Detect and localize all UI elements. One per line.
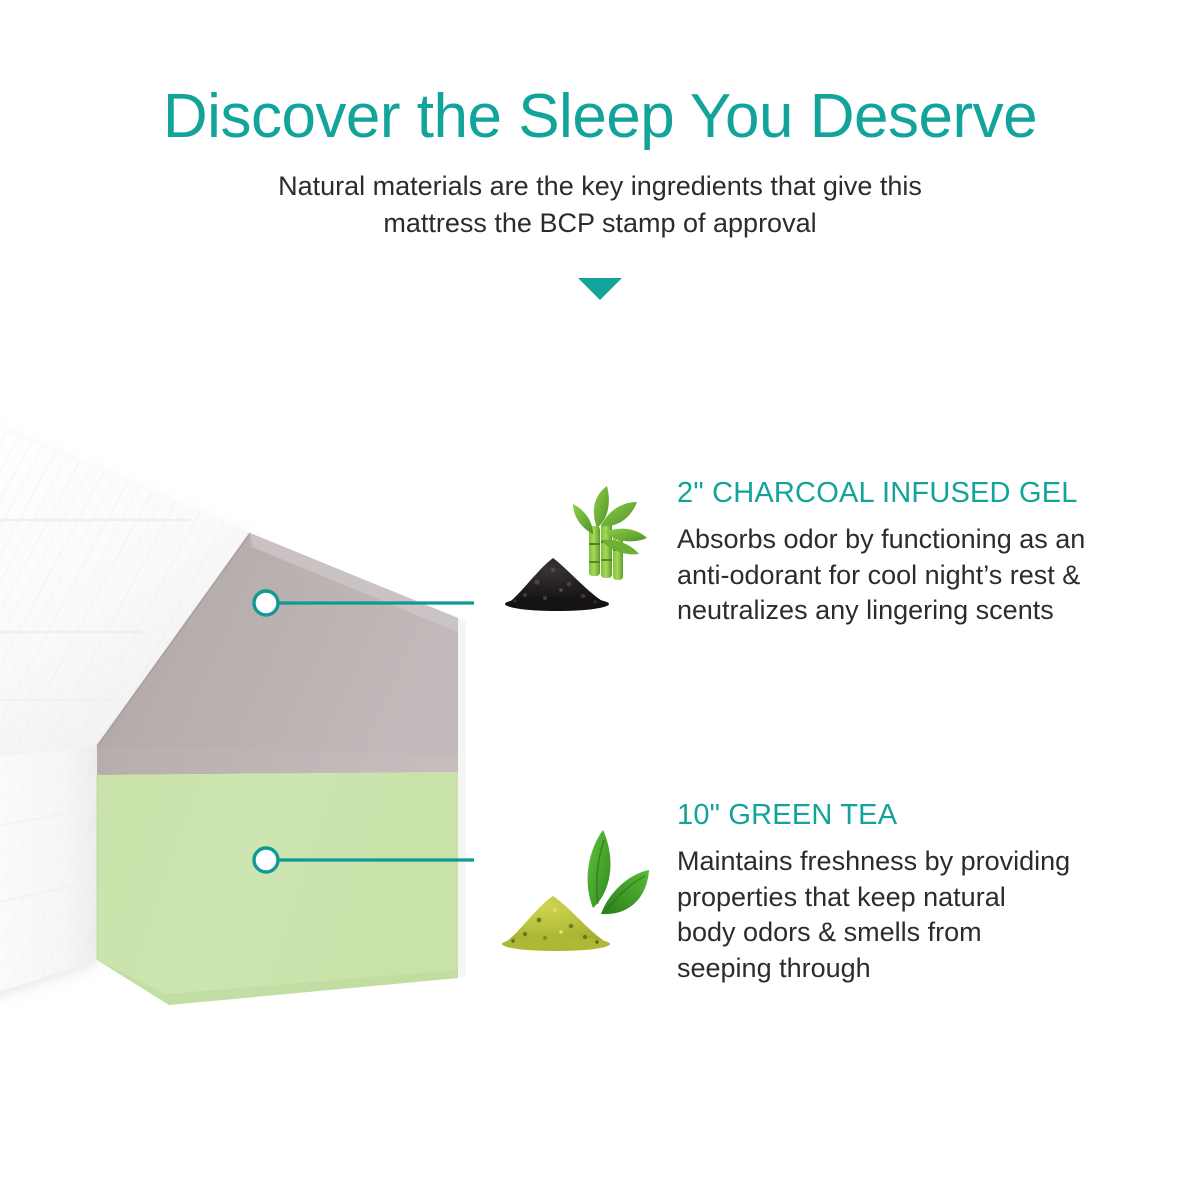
triangle-down-icon bbox=[578, 278, 622, 300]
feature-green-tea-title: 10" GREEN TEA bbox=[677, 800, 1157, 832]
feature-charcoal-body: Absorbs odor by functioning as an anti-o… bbox=[677, 510, 1157, 629]
feature-charcoal-body-line-1: Absorbs odor by functioning as an bbox=[677, 522, 1157, 558]
feature-green-tea-body-line-1: Maintains freshness by providing bbox=[677, 844, 1157, 880]
tea-leaves bbox=[588, 830, 649, 914]
page-subtitle: Natural materials are the key ingredient… bbox=[200, 148, 1000, 243]
bamboo-leaves bbox=[573, 486, 647, 554]
feature-charcoal-title: 2" CHARCOAL INFUSED GEL bbox=[677, 478, 1157, 510]
feature-charcoal-body-line-3: neutralizes any lingering scents bbox=[677, 593, 1157, 629]
feature-green-tea-body: Maintains freshness by providing propert… bbox=[677, 832, 1157, 987]
page-title: Discover the Sleep You Deserve bbox=[0, 0, 1200, 148]
feature-green-tea-text: 10" GREEN TEA Maintains freshness by pro… bbox=[667, 800, 1157, 986]
feature-green-tea-body-line-2: properties that keep natural bbox=[677, 880, 1157, 916]
charcoal-granules-with-bamboo-icon bbox=[497, 478, 667, 618]
feature-green-tea-body-line-3: body odors & smells from bbox=[677, 915, 1157, 951]
page-subtitle-line-2: mattress the BCP stamp of approval bbox=[383, 208, 816, 238]
page-subtitle-line-1: Natural materials are the key ingredient… bbox=[278, 171, 922, 201]
scroll-hint bbox=[0, 278, 1200, 300]
feature-green-tea-body-line-4: seeping through bbox=[677, 951, 1157, 987]
feature-charcoal-body-line-2: anti-odorant for cool night’s rest & bbox=[677, 558, 1157, 594]
feature-green-tea: 10" GREEN TEA Maintains freshness by pro… bbox=[497, 800, 1157, 986]
green-tea-powder-with-leaves-icon bbox=[497, 818, 667, 958]
callout-dot-green-tea bbox=[254, 848, 278, 872]
cover-right-edge bbox=[458, 618, 466, 978]
product-infographic-page: Discover the Sleep You Deserve Natural m… bbox=[0, 0, 1200, 1200]
header: Discover the Sleep You Deserve Natural m… bbox=[0, 0, 1200, 243]
green-tea-layer bbox=[97, 772, 458, 1005]
feature-charcoal-text: 2" CHARCOAL INFUSED GEL Absorbs odor by … bbox=[667, 478, 1157, 629]
mattress-cutaway-diagram bbox=[0, 400, 474, 1060]
feature-charcoal-infused-gel: 2" CHARCOAL INFUSED GEL Absorbs odor by … bbox=[497, 478, 1157, 629]
callout-dot-charcoal bbox=[254, 591, 278, 615]
